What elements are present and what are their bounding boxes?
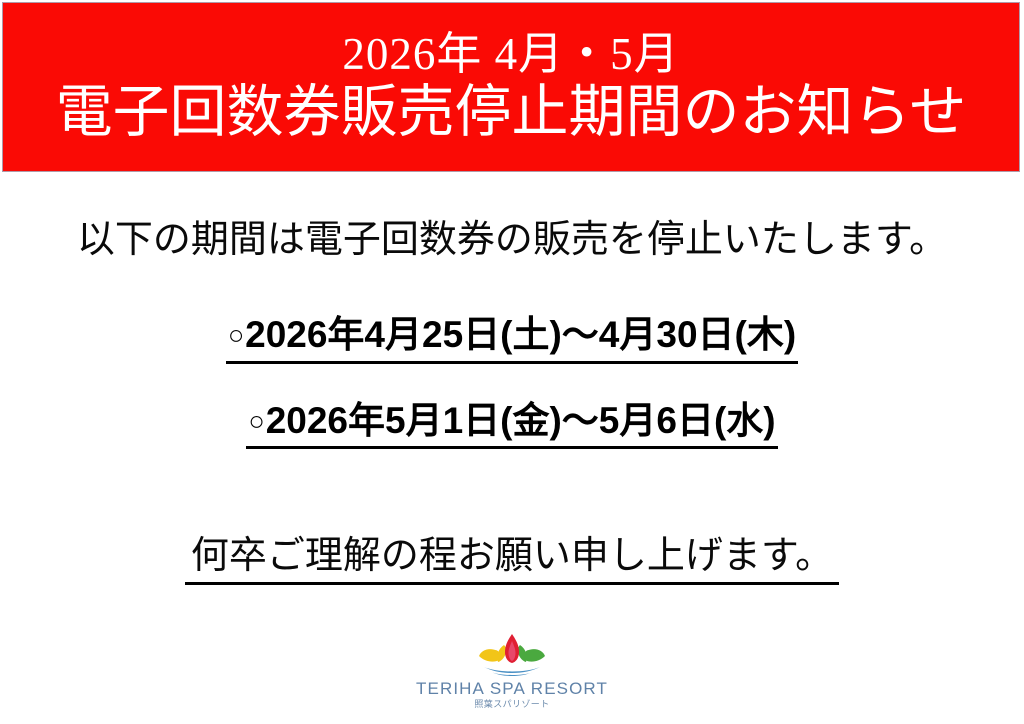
closing-paragraph: 何卒ご理解の程お願い申し上げます。 bbox=[0, 536, 1024, 585]
banner-title-line-1: 2026年 4月・5月 bbox=[342, 31, 679, 78]
closing-text: 何卒ご理解の程お願い申し上げます。 bbox=[185, 536, 839, 585]
period-text: 2026年4月25日(土)～4月30日(木) bbox=[245, 314, 796, 355]
notice-page: 2026年 4月・5月 電子回数券販売停止期間のお知らせ 以下の期間は電子回数券… bbox=[0, 0, 1024, 724]
banner-title-line-2: 電子回数券販売停止期間のお知らせ bbox=[56, 83, 967, 143]
header-banner: 2026年 4月・5月 電子回数券販売停止期間のお知らせ bbox=[2, 2, 1020, 172]
lead-paragraph: 以下の期間は電子回数券の販売を停止いたします。 bbox=[0, 220, 1024, 262]
list-item: ○2026年5月1日(金)～5月6日(水) bbox=[0, 400, 1024, 450]
spa-flower-logo-icon bbox=[469, 632, 555, 678]
logo-wordmark: TERIHA SPA RESORT bbox=[416, 680, 608, 699]
list-item: ○2026年4月25日(土)～4月30日(木) bbox=[0, 314, 1024, 364]
period-text: 2026年5月1日(金)～5月6日(水) bbox=[266, 400, 776, 441]
logo-subtitle: 照葉スパリゾート bbox=[474, 700, 549, 710]
notice-body: 以下の期間は電子回数券の販売を停止いたします。 ○2026年4月25日(土)～4… bbox=[0, 172, 1024, 724]
circle-bullet-icon: ○ bbox=[248, 406, 264, 436]
period-underline-wrapper: ○2026年5月1日(金)～5月6日(水) bbox=[246, 400, 777, 450]
circle-bullet-icon: ○ bbox=[228, 320, 244, 350]
period-underline-wrapper: ○2026年4月25日(土)～4月30日(木) bbox=[226, 314, 798, 364]
brand-logo: TERIHA SPA RESORT 照葉スパリゾート bbox=[0, 632, 1024, 710]
suspension-period-list: ○2026年4月25日(土)～4月30日(木) ○2026年5月1日(金)～5月… bbox=[0, 314, 1024, 485]
